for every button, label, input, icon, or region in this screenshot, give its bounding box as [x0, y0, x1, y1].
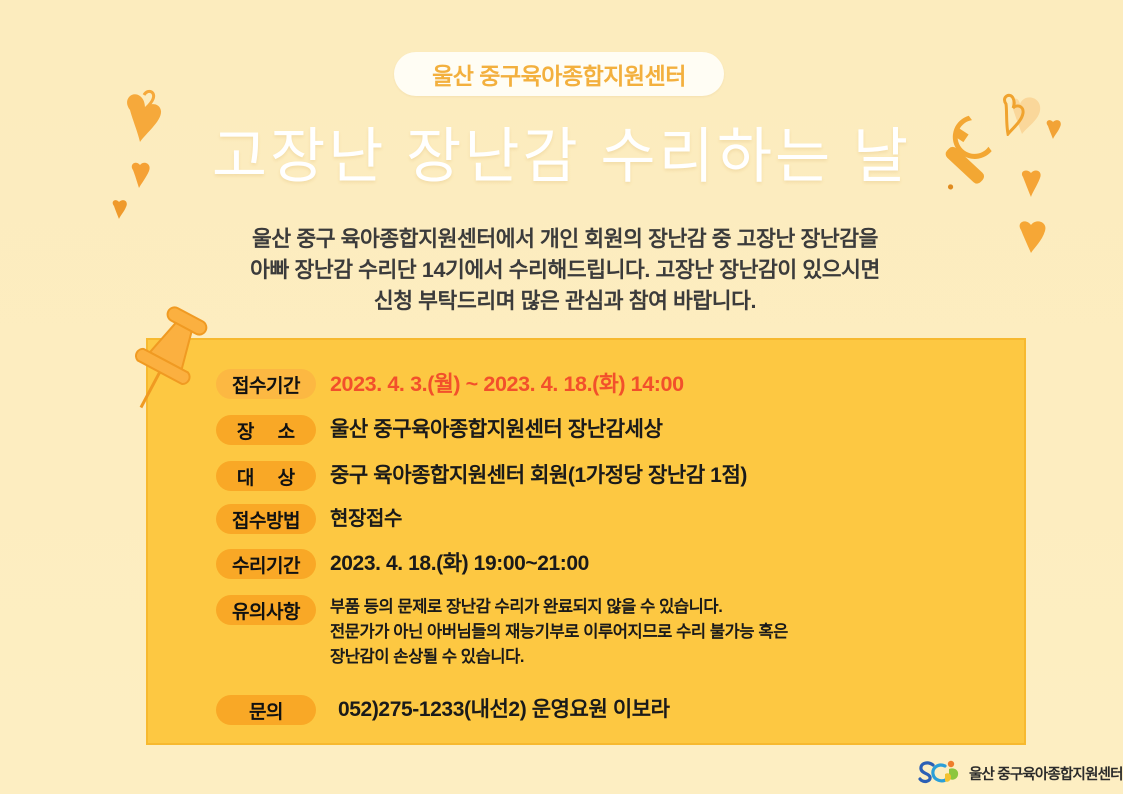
footer-logo-label: 울산 중구육아종합지원센터 [969, 763, 1123, 784]
info-value-notice: 부품 등의 문제로 장난감 수리가 완료되지 않을 수 있습니다. 전문가가 아… [330, 595, 990, 670]
heart-icon [110, 198, 130, 220]
info-value-application-method: 현장접수 [330, 504, 402, 534]
center-name-badge: 울산 중구육아종합지원센터 [394, 52, 724, 96]
wrench-icon [928, 112, 1002, 192]
info-value-contact: 052)275-1233(내선2) 운영요원 이보라 [338, 695, 670, 725]
info-value-repair-period: 2023. 4. 18.(화) 19:00~21:00 [330, 549, 589, 579]
info-label-target: 대 상 [216, 461, 316, 491]
table-row: 접수기간 2023. 4. 3.(월) ~ 2023. 4. 18.(화) 14… [216, 369, 684, 399]
info-box: 접수기간 2023. 4. 3.(월) ~ 2023. 4. 18.(화) 14… [146, 338, 1026, 745]
poster-canvas: 울산 중구육아종합지원센터 고장난 장난감 수리하는 날 울산 중구 육아종합지… [0, 0, 1123, 794]
table-row: 수리기간 2023. 4. 18.(화) 19:00~21:00 [216, 549, 589, 579]
pushpin-icon [104, 302, 224, 422]
description-line-3: 신청 부탁드리며 많은 관심과 참여 바랍니다. [120, 286, 1010, 317]
heart-icon [1014, 218, 1054, 254]
table-row: 대 상 중구 육아종합지원센터 회원(1가정당 장난감 1점) [216, 461, 747, 491]
footer-logo: 울산 중구육아종합지원센터 [918, 760, 1123, 786]
info-label-application-period: 접수기간 [216, 369, 316, 399]
info-label-notice: 유의사항 [216, 595, 316, 625]
table-row: 장 소 울산 중구육아종합지원센터 장난감세상 [216, 415, 663, 445]
page-title-text: 고장난 장난감 수리하는 날 [212, 108, 911, 195]
info-label-contact: 문의 [216, 695, 316, 725]
info-value-notice-line-3: 장난감이 손상될 수 있습니다. [330, 645, 990, 670]
info-label-application-method: 접수방법 [216, 504, 316, 534]
info-value-target: 중구 육아종합지원센터 회원(1가정당 장난감 1점) [330, 461, 747, 491]
center-name-badge-label: 울산 중구육아종합지원센터 [432, 57, 686, 91]
info-label-location: 장 소 [216, 415, 316, 445]
description-paragraph: 울산 중구 육아종합지원센터에서 개인 회원의 장난감 중 고장난 장난감을 아… [120, 224, 1010, 317]
description-line-1: 울산 중구 육아종합지원센터에서 개인 회원의 장난감 중 고장난 장난감을 [120, 224, 1010, 255]
table-row: 접수방법 현장접수 [216, 504, 402, 534]
table-row: 유의사항 부품 등의 문제로 장난감 수리가 완료되지 않을 수 있습니다. 전… [216, 595, 990, 670]
info-label-repair-period: 수리기간 [216, 549, 316, 579]
info-value-notice-line-1: 부품 등의 문제로 장난감 수리가 완료되지 않을 수 있습니다. [330, 595, 990, 620]
info-value-location: 울산 중구육아종합지원센터 장난감세상 [330, 415, 663, 445]
description-line-2: 아빠 장난감 수리단 14기에서 수리해드립니다. 고장난 장난감이 있으시면 [120, 255, 1010, 286]
table-row: 문의 052)275-1233(내선2) 운영요원 이보라 [216, 695, 670, 725]
info-value-notice-line-2: 전문가가 아닌 아버님들의 재능기부로 이루어지므로 수리 불가능 혹은 [330, 620, 990, 645]
sc-logo-icon [918, 760, 962, 786]
info-value-application-period: 2023. 4. 3.(월) ~ 2023. 4. 18.(화) 14:00 [330, 369, 684, 399]
